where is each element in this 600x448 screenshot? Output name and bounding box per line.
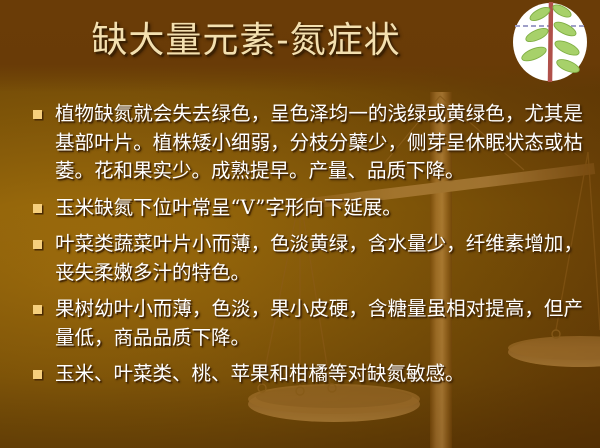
list-item: 叶菜类蔬菜叶片小而薄，色淡黄绿，含水量少，纤维素增加，丧失柔嫩多汁的特色。 bbox=[27, 230, 583, 287]
list-item: 植物缺氮就会失去绿色，呈色泽均一的浅绿或黄绿色，尤其是基部叶片。植株矮小细弱，分… bbox=[27, 100, 583, 186]
square-bullet-icon bbox=[33, 204, 42, 213]
square-bullet-icon bbox=[33, 110, 42, 119]
list-item-text: 叶菜类蔬菜叶片小而薄，色淡黄绿，含水量少，纤维素增加，丧失柔嫩多汁的特色。 bbox=[55, 230, 583, 287]
list-item-text: 果树幼叶小而薄，色淡，果小皮硬，含糖量虽相对提高，但产量低，商品品质下降。 bbox=[55, 295, 583, 352]
plant-stem bbox=[550, 2, 551, 82]
plant-seedling-logo bbox=[511, 2, 589, 82]
presentation-slide: 缺大量元素-氮症状 植物缺氮就会失去绿色，呈色泽均一的浅绿或黄绿色，尤其是基部叶… bbox=[0, 0, 600, 448]
list-item: 玉米缺氮下位叶常呈“V”字形向下延展。 bbox=[27, 194, 583, 223]
square-bullet-icon bbox=[33, 240, 42, 249]
list-item: 玉米、叶菜类、桃、苹果和柑橘等对缺氮敏感。 bbox=[27, 360, 583, 389]
page-title: 缺大量元素-氮症状 bbox=[0, 18, 492, 64]
square-bullet-icon bbox=[33, 370, 42, 379]
list-item-text: 玉米、叶菜类、桃、苹果和柑橘等对缺氮敏感。 bbox=[55, 360, 583, 389]
bullet-list: 植物缺氮就会失去绿色，呈色泽均一的浅绿或黄绿色，尤其是基部叶片。植株矮小细弱，分… bbox=[27, 100, 583, 389]
list-item: 果树幼叶小而薄，色淡，果小皮硬，含糖量虽相对提高，但产量低，商品品质下降。 bbox=[27, 295, 583, 352]
list-item-text: 玉米缺氮下位叶常呈“V”字形向下延展。 bbox=[55, 194, 583, 223]
square-bullet-icon bbox=[33, 305, 42, 314]
title-row: 缺大量元素-氮症状 bbox=[0, 18, 600, 80]
list-item-text: 植物缺氮就会失去绿色，呈色泽均一的浅绿或黄绿色，尤其是基部叶片。植株矮小细弱，分… bbox=[55, 100, 583, 186]
